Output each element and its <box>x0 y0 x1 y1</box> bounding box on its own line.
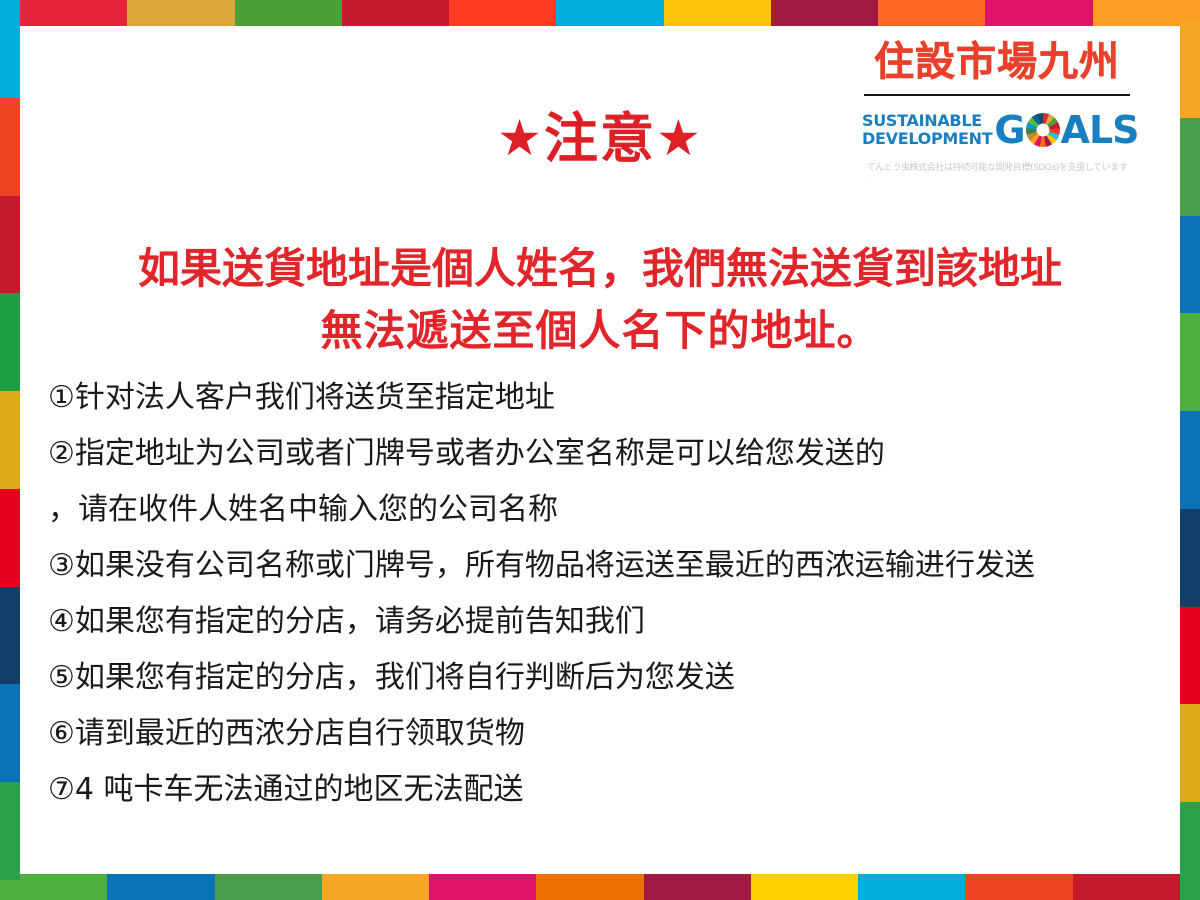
border-color-segment <box>664 0 771 26</box>
border-top <box>20 0 1200 26</box>
border-color-segment <box>644 874 751 900</box>
border-color-segment <box>429 874 536 900</box>
notes-list: ①针对法人客户我们将送货至指定地址 ②指定地址为公司或者门牌号或者办公室名称是可… <box>48 370 1168 818</box>
border-color-segment <box>1180 607 1200 705</box>
headline-line-1: 如果送貨地址是個人姓名，我們無法送貨到該地址 <box>26 238 1174 300</box>
list-item: ，请在收件人姓名中输入您的公司名称 <box>48 482 1168 538</box>
border-color-segment <box>1180 118 1200 216</box>
star-right-icon: ★ <box>656 109 703 167</box>
headline: 如果送貨地址是個人姓名，我們無法送貨到該地址 無法遞送至個人名下的地址。 <box>26 238 1174 362</box>
border-color-segment <box>20 0 127 26</box>
border-color-segment <box>127 0 234 26</box>
border-color-segment <box>235 0 342 26</box>
notice-poster: 住設市場九州 SUSTAINABLE DEVELOPMENT G ALS てんと… <box>0 0 1200 900</box>
list-item: ③如果没有公司名称或门牌号，所有物品将运送至最近的西浓运输进行发送 <box>48 538 1168 594</box>
border-color-segment <box>1180 313 1200 411</box>
list-item: ④如果您有指定的分店，请务必提前告知我们 <box>48 594 1168 650</box>
company-name-jp: 住設市場九州 <box>852 36 1142 88</box>
list-item: ②指定地址为公司或者门牌号或者办公室名称是可以给您发送的 <box>48 426 1168 482</box>
logo-divider <box>864 94 1130 96</box>
border-color-segment <box>1180 216 1200 314</box>
border-color-segment <box>1180 411 1200 509</box>
list-item: ⑥请到最近的西浓分店自行领取货物 <box>48 706 1168 762</box>
border-color-segment <box>1073 874 1180 900</box>
border-color-segment <box>107 874 214 900</box>
border-right <box>1180 20 1200 900</box>
border-color-segment <box>0 684 20 782</box>
page-title: ★注意★ <box>26 108 1174 169</box>
page-title-text: 注意 <box>544 107 656 170</box>
border-color-segment <box>322 874 429 900</box>
border-color-segment <box>556 0 663 26</box>
border-color-segment <box>449 0 556 26</box>
border-bottom <box>0 874 1180 900</box>
border-color-segment <box>342 0 449 26</box>
border-color-segment <box>985 0 1092 26</box>
border-color-segment <box>771 0 878 26</box>
border-color-segment <box>965 874 1072 900</box>
border-left <box>0 0 20 880</box>
border-color-segment <box>0 391 20 489</box>
border-color-segment <box>1180 20 1200 118</box>
border-color-segment <box>0 98 20 196</box>
border-color-segment <box>0 293 20 391</box>
border-color-segment <box>1180 509 1200 607</box>
border-color-segment <box>0 489 20 587</box>
border-color-segment <box>0 196 20 294</box>
border-color-segment <box>1180 802 1200 900</box>
list-item: ⑤如果您有指定的分店，我们将自行判断后为您发送 <box>48 650 1168 706</box>
list-item: ⑦4 吨卡车无法通过的地区无法配送 <box>48 762 1168 818</box>
headline-line-2: 無法遞送至個人名下的地址。 <box>26 300 1174 362</box>
content-card: 住設市場九州 SUSTAINABLE DEVELOPMENT G ALS てんと… <box>26 30 1174 868</box>
border-color-segment <box>0 0 20 98</box>
border-color-segment <box>0 587 20 685</box>
border-color-segment <box>858 874 965 900</box>
border-color-segment <box>536 874 643 900</box>
border-color-segment <box>1180 704 1200 802</box>
border-color-segment <box>878 0 985 26</box>
border-color-segment <box>0 782 20 880</box>
border-color-segment <box>215 874 322 900</box>
border-color-segment <box>751 874 858 900</box>
list-item: ①针对法人客户我们将送货至指定地址 <box>48 370 1168 426</box>
star-left-icon: ★ <box>497 109 544 167</box>
